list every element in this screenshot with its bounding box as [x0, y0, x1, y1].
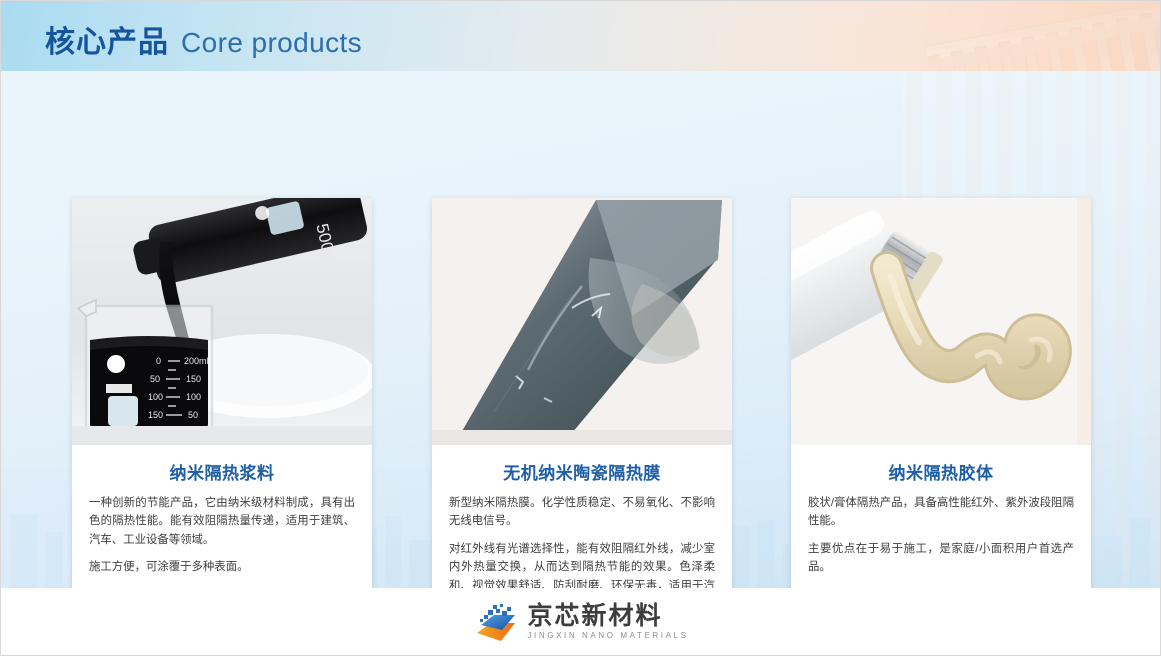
product-paragraph: 新型纳米隔热膜。化学性质稳定、不易氧化、不影响无线电信号。 — [449, 494, 715, 531]
page-title-en: Core products — [181, 27, 362, 59]
product-card[interactable]: 500ml 0200ml — [72, 198, 372, 588]
product-card[interactable]: 无机纳米陶瓷隔热膜 新型纳米隔热膜。化学性质稳定、不易氧化、不影响无线电信号。 … — [432, 198, 732, 588]
product-title: 纳米隔热浆料 — [89, 459, 355, 484]
svg-text:100: 100 — [186, 392, 201, 402]
svg-text:150: 150 — [148, 410, 163, 420]
slide-footer: 京芯新材料 JINGXIN NANO MATERIALS — [1, 588, 1161, 656]
svg-text:50: 50 — [150, 374, 160, 384]
product-card[interactable]: 纳米隔热胶体 胶状/膏体隔热产品，具备高性能红外、紫外波段阻隔性能。 主要优点在… — [791, 198, 1091, 588]
product-paragraph: 主要优点在于易于施工，是家庭/小面积用户首选产品。 — [808, 540, 1074, 577]
product-paragraph: 施工方便，可涂覆于多种表面。 — [89, 558, 355, 576]
svg-text:50: 50 — [188, 410, 198, 420]
product-photo — [432, 198, 732, 445]
slide-header: 核心产品 Core products — [1, 1, 1161, 71]
slide-root: 核心产品 Core products — [0, 0, 1161, 656]
brand-logo[interactable]: 京芯新材料 JINGXIN NANO MATERIALS — [474, 603, 688, 643]
rolled-tinted-ceramic-film-photo-icon — [432, 198, 732, 445]
product-title: 无机纳米陶瓷隔热膜 — [449, 459, 715, 484]
product-text: 无机纳米陶瓷隔热膜 新型纳米隔热膜。化学性质稳定、不易氧化、不影响无线电信号。 … — [432, 445, 732, 588]
svg-text:200ml: 200ml — [184, 356, 209, 366]
svg-text:150: 150 — [186, 374, 201, 384]
brand-name-cn: 京芯新材料 — [527, 603, 688, 629]
product-photo — [791, 198, 1091, 445]
slide-body: 500ml 0200ml — [1, 71, 1161, 588]
svg-text:0: 0 — [156, 356, 161, 366]
jingxin-layered-pixel-logo-icon — [474, 603, 518, 643]
brand-name-en: JINGXIN NANO MATERIALS — [527, 631, 688, 641]
page-title-cn: 核心产品 — [45, 17, 169, 61]
colonnade-building-watermark-icon — [923, 1, 1161, 71]
product-paragraph: 对红外线有光谱选择性，能有效阻隔红外线，减少室内外热量交换，从而达到隔热节能的效… — [449, 540, 715, 588]
black-liquid-poured-into-beaker-photo-icon: 500ml 0200ml — [72, 198, 372, 445]
svg-text:100: 100 — [148, 392, 163, 402]
product-text: 纳米隔热胶体 胶状/膏体隔热产品，具备高性能红外、紫外波段阻隔性能。 主要优点在… — [791, 445, 1091, 588]
paste-extruded-from-tube-photo-icon — [791, 198, 1091, 445]
page-title: 核心产品 Core products — [45, 17, 362, 61]
product-paragraph: 一种创新的节能产品，它由纳米级材料制成，具有出色的隔热性能。能有效阻隔热量传递，… — [89, 494, 355, 549]
product-photo: 500ml 0200ml — [72, 198, 372, 445]
brand-wordmark: 京芯新材料 JINGXIN NANO MATERIALS — [527, 603, 688, 642]
product-text: 纳米隔热浆料 一种创新的节能产品，它由纳米级材料制成，具有出色的隔热性能。能有效… — [72, 445, 372, 588]
product-title: 纳米隔热胶体 — [808, 459, 1074, 484]
product-paragraph: 胶状/膏体隔热产品，具备高性能红外、紫外波段阻隔性能。 — [808, 494, 1074, 531]
